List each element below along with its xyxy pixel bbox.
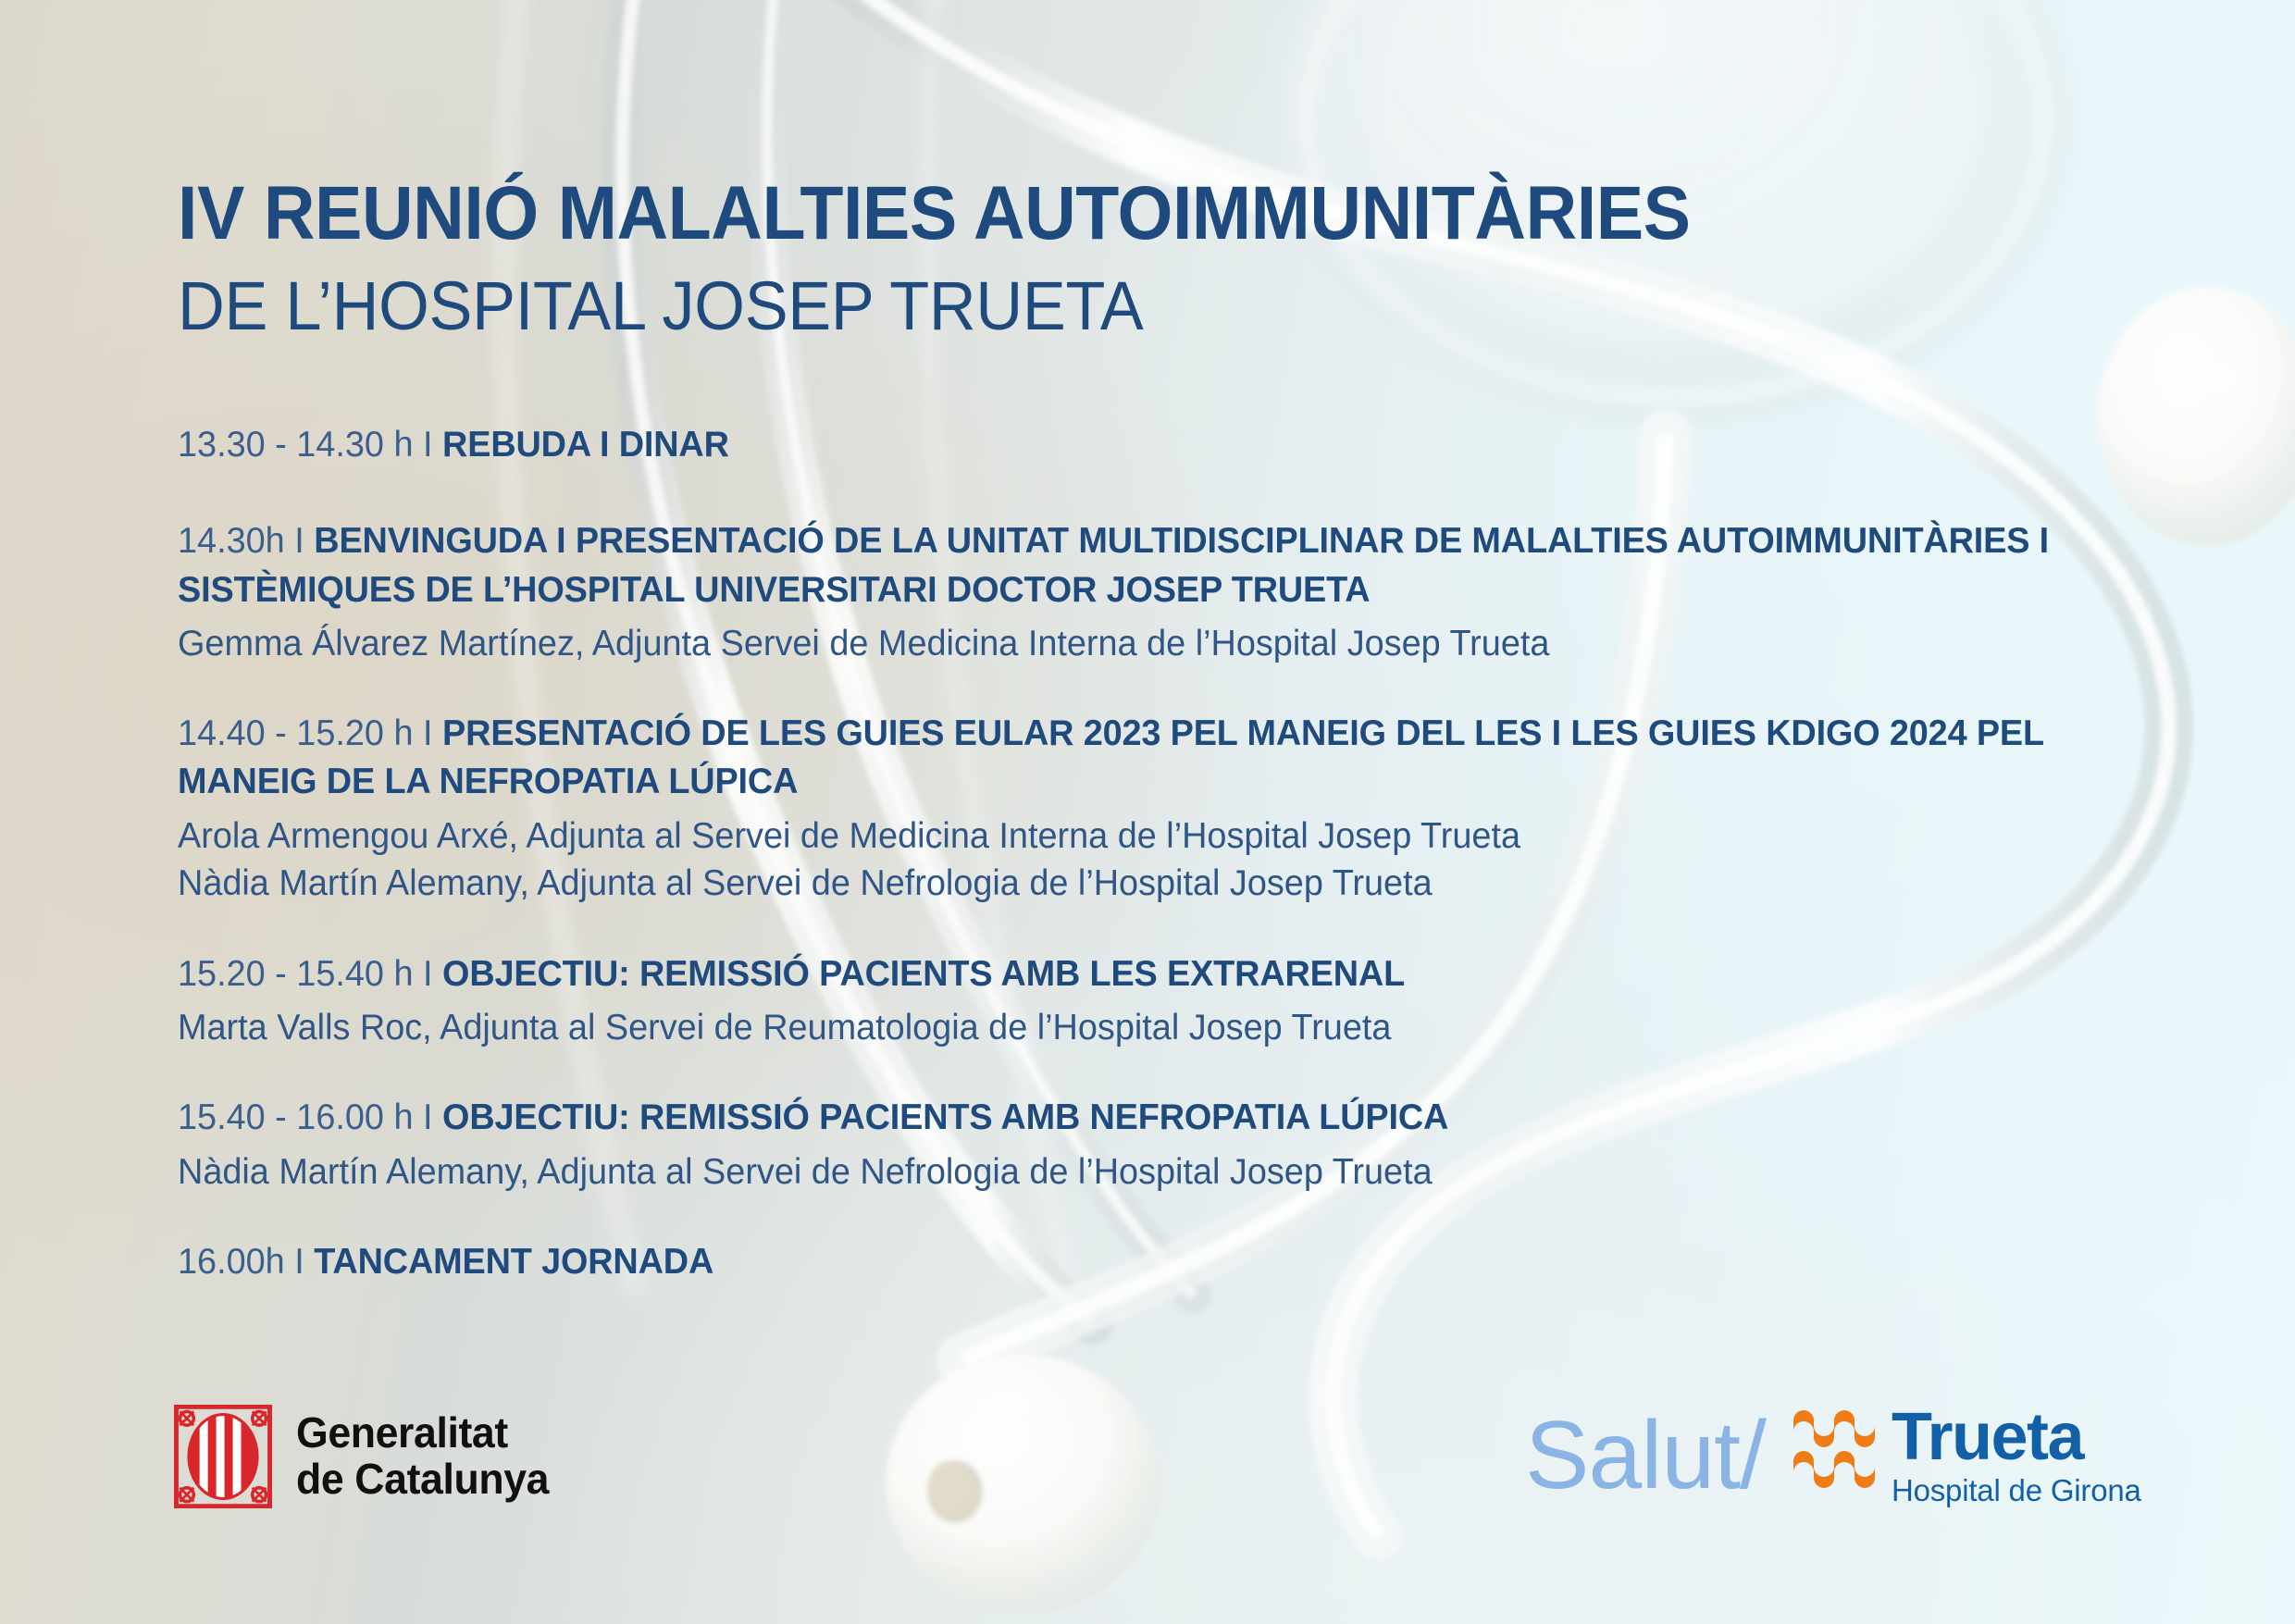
program-time: 15.40 - 16.00 h (178, 1097, 414, 1137)
program-time: 13.30 - 14.30 h (178, 425, 414, 465)
program-separator: I (294, 1242, 304, 1282)
program-headline: 15.20 - 15.40 h I OBJECTIU: REMISSIÓ PAC… (178, 950, 2090, 998)
program-item: 14.30h I BENVINGUDA I PRESENTACIÓ DE LA … (178, 517, 2149, 667)
speaker-line: Nàdia Martín Alemany, Adjunta al Servei … (178, 860, 2090, 907)
trueta-name: Trueta (1892, 1405, 2141, 1470)
program-headline: 14.40 - 15.20 h I PRESENTACIÓ DE LES GUI… (178, 710, 2090, 807)
poster-content: IV REUNIÓ MALALTIES AUTOIMMUNITÀRIES DE … (0, 0, 2295, 1624)
program-item: 15.20 - 15.40 h I OBJECTIU: REMISSIÓ PAC… (178, 950, 2149, 1052)
speaker-line: Marta Valls Roc, Adjunta al Servei de Re… (178, 1004, 2090, 1051)
program-separator: I (294, 521, 304, 561)
program-headline: 13.30 - 14.30 h I REBUDA I DINAR (178, 421, 2090, 469)
program-separator: I (423, 1097, 433, 1137)
program-separator: I (423, 713, 433, 753)
program-headline: 15.40 - 16.00 h I OBJECTIU: REMISSIÓ PAC… (178, 1094, 2090, 1142)
speaker-line: Nàdia Martín Alemany, Adjunta al Servei … (178, 1148, 2090, 1196)
generalitat-wordmark: Generalitat de Catalunya (296, 1410, 549, 1502)
program-item: 15.40 - 16.00 h I OBJECTIU: REMISSIÓ PAC… (178, 1094, 2149, 1196)
trueta-waves-icon (1790, 1409, 1879, 1502)
program-time: 15.20 - 15.40 h (178, 954, 414, 994)
title-line-2: DE L’HOSPITAL JOSEP TRUETA (178, 272, 1706, 341)
program-separator: I (423, 954, 433, 994)
program-time: 16.00h (178, 1242, 285, 1282)
poster-title: IV REUNIÓ MALALTIES AUTOIMMUNITÀRIES DE … (178, 176, 1787, 341)
program-speakers: Gemma Álvarez Martínez, Adjunta Servei d… (178, 620, 2149, 667)
program-topic: OBJECTIU: REMISSIÓ PACIENTS AMB NEFROPAT… (442, 1097, 1448, 1137)
generalitat-line-1: Generalitat (296, 1410, 549, 1457)
program-item: 16.00h I TANCAMENT JORNADA (178, 1238, 2149, 1286)
trueta-subtitle: Hospital de Girona (1892, 1474, 2141, 1507)
program-item: 13.30 - 14.30 h I REBUDA I DINAR (178, 421, 2149, 469)
program-item: 14.40 - 15.20 h I PRESENTACIÓ DE LES GUI… (178, 710, 2149, 907)
program-separator: I (423, 425, 433, 465)
program-topic: REBUDA I DINAR (442, 425, 729, 465)
generalitat-logo: Generalitat de Catalunya (174, 1405, 557, 1508)
generalitat-shield-icon (174, 1405, 272, 1508)
program-topic: PRESENTACIÓ DE LES GUIES EULAR 2023 PEL … (178, 713, 2043, 801)
program-headline: 16.00h I TANCAMENT JORNADA (178, 1238, 2090, 1286)
program-speakers: Marta Valls Roc, Adjunta al Servei de Re… (178, 1004, 2149, 1051)
program-speakers: Nàdia Martín Alemany, Adjunta al Servei … (178, 1148, 2149, 1196)
generalitat-line-2: de Catalunya (296, 1457, 549, 1503)
speaker-line: Arola Armengou Arxé, Adjunta al Servei d… (178, 812, 2090, 860)
title-line-1: IV REUNIÓ MALALTIES AUTOIMMUNITÀRIES (178, 176, 1691, 252)
program-time: 14.30h (178, 521, 285, 561)
program-headline: 14.30h I BENVINGUDA I PRESENTACIÓ DE LA … (178, 517, 2090, 614)
program-time: 14.40 - 15.20 h (178, 713, 414, 753)
program-speakers: Arola Armengou Arxé, Adjunta al Servei d… (178, 812, 2149, 908)
program-schedule: 13.30 - 14.30 h I REBUDA I DINAR 14.30h … (178, 421, 2149, 1286)
program-topic: BENVINGUDA I PRESENTACIÓ DE LA UNITAT MU… (178, 521, 2049, 609)
program-topic: OBJECTIU: REMISSIÓ PACIENTS AMB LES EXTR… (442, 954, 1405, 994)
salut-wordmark: Salut/ (1525, 1407, 1766, 1504)
salut-trueta-logo: Salut/ Trueta Hospital de Girona (1525, 1405, 2141, 1507)
trueta-wordmark: Trueta Hospital de Girona (1892, 1405, 2141, 1507)
program-topic: TANCAMENT JORNADA (314, 1242, 713, 1282)
speaker-line: Gemma Álvarez Martínez, Adjunta Servei d… (178, 620, 2090, 667)
poster-canvas: IV REUNIÓ MALALTIES AUTOIMMUNITÀRIES DE … (0, 0, 2295, 1624)
